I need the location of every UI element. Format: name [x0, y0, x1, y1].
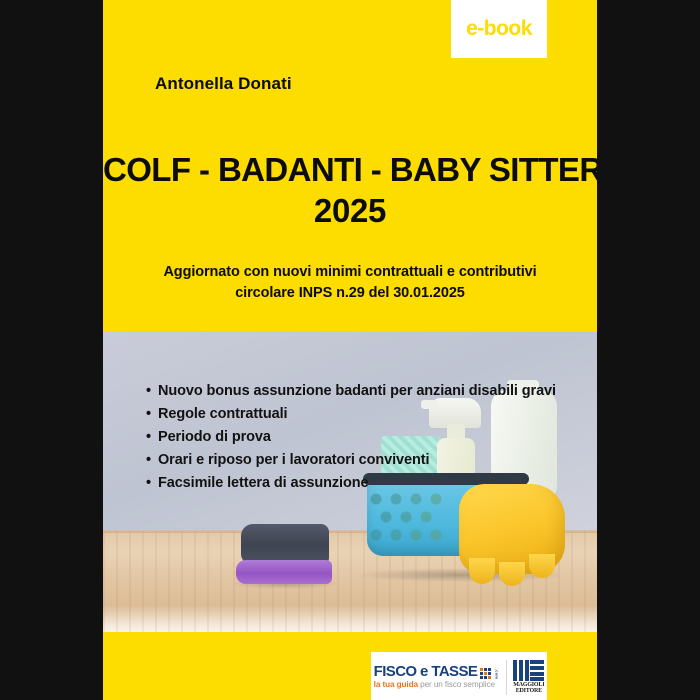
photo-purple-towel — [236, 560, 332, 584]
maggioli-bars-icon — [513, 660, 544, 681]
ebook-badge: e-book — [451, 0, 547, 58]
bullet-point-icon: • — [146, 472, 158, 495]
publisher-tagline: la tua guida per un fisco semplice — [374, 681, 500, 689]
list-item: • Periodo di prova — [146, 426, 576, 449]
subtitle-line-1: Aggiornato con nuovi minimi contrattuali… — [133, 262, 567, 283]
book-subtitle: Aggiornato con nuovi minimi contrattuali… — [133, 262, 567, 304]
photo-glove-finger-1 — [469, 558, 495, 584]
feature-bullet-list: • Nuovo bonus assunzione badanti per anz… — [146, 380, 576, 495]
list-item-label: Regole contrattuali — [158, 403, 287, 426]
bullet-point-icon: • — [146, 403, 158, 426]
ebook-badge-label: e-book — [466, 17, 532, 41]
author-name: Antonella Donati — [155, 74, 292, 94]
bullet-point-icon: • — [146, 426, 158, 449]
tagline-accent: la tua guida — [374, 680, 418, 689]
publisher-logo: FISCO e TASSE .com la tua guida per un f… — [371, 652, 547, 700]
bullet-point-icon: • — [146, 380, 158, 403]
list-item: • Nuovo bonus assunzione badanti per anz… — [146, 380, 576, 403]
fisco-e-tasse-logo: FISCO e TASSE .com la tua guida per un f… — [374, 664, 500, 689]
photo-gray-towel — [241, 524, 329, 564]
domain-suffix-label: .com — [494, 669, 499, 679]
maggioli-imprint-name: MAGGIOLI EDITORE — [513, 682, 544, 695]
fisco-e-tasse-wordmark-row: FISCO e TASSE .com — [374, 664, 500, 679]
book-cover-page: e-book Antonella Donati COLF - BADANTI -… — [0, 0, 700, 700]
bullet-point-icon: • — [146, 449, 158, 472]
list-item-label: Periodo di prova — [158, 426, 271, 449]
title-line-1: COLF - BADANTI - BABY SITTER — [103, 150, 597, 190]
maggioli-editore-logo: MAGGIOLI EDITORE — [506, 660, 544, 695]
list-item-label: Facsimile lettera di assunzione — [158, 472, 368, 495]
publisher-logo-inner: FISCO e TASSE .com la tua guida per un f… — [374, 658, 545, 695]
pixel-grid-icon — [480, 668, 491, 679]
title-line-2: 2025 — [103, 190, 597, 232]
list-item: • Facsimile lettera di assunzione — [146, 472, 576, 495]
subtitle-line-2: circolare INPS n.29 del 30.01.2025 — [133, 283, 567, 304]
maggioli-imprint-line-2: EDITORE — [513, 688, 544, 695]
book-title: COLF - BADANTI - BABY SITTER 2025 — [103, 150, 597, 232]
list-item: • Orari e riposo per i lavoratori conviv… — [146, 449, 576, 472]
list-item-label: Orari e riposo per i lavoratori conviven… — [158, 449, 429, 472]
tagline-rest: per un fisco semplice — [418, 680, 495, 689]
book-cover: e-book Antonella Donati COLF - BADANTI -… — [103, 0, 597, 700]
list-item: • Regole contrattuali — [146, 403, 576, 426]
list-item-label: Nuovo bonus assunzione badanti per anzia… — [158, 380, 556, 403]
fisco-e-tasse-wordmark: FISCO e TASSE — [374, 664, 478, 679]
